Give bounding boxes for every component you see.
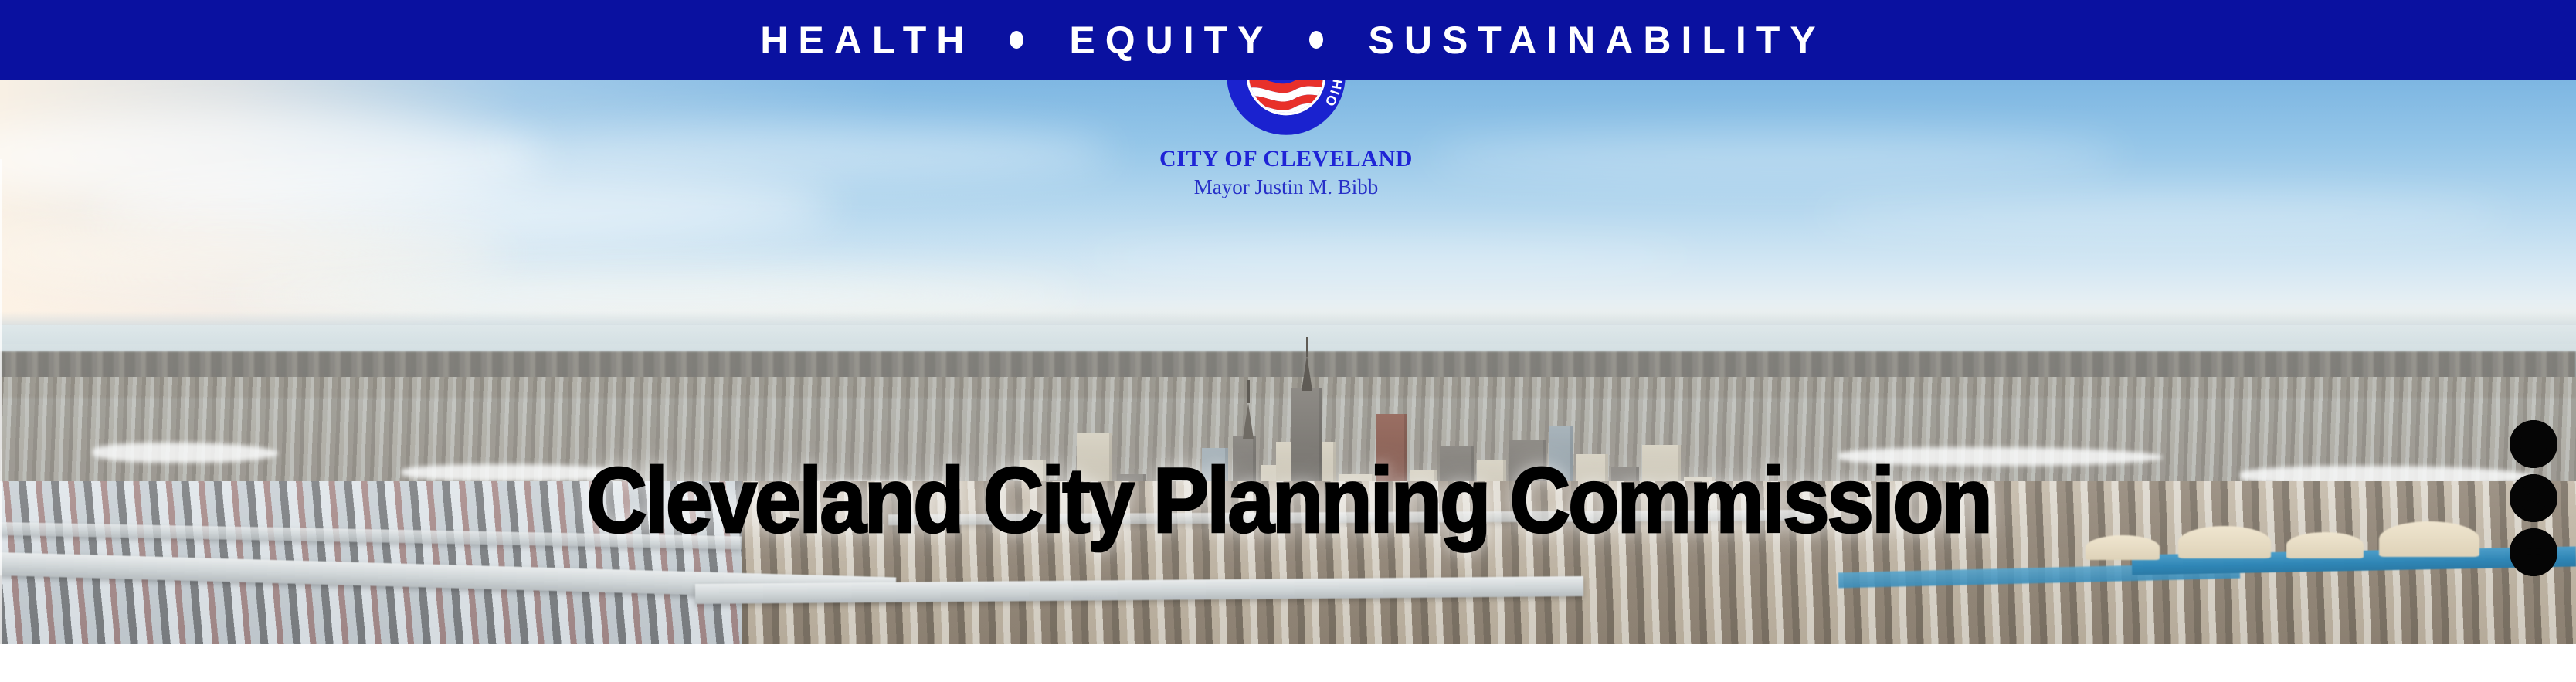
photo-left-edge (0, 159, 2, 644)
instagram-icon (2510, 474, 2557, 522)
spire-needle (1247, 380, 1250, 403)
snow-patch (1838, 447, 2163, 466)
tagline-word-equity: EQUITY (1059, 21, 1273, 59)
facebook-icon (2510, 528, 2557, 576)
cloud (479, 126, 1112, 180)
mayor-name: Mayor Justin M. Bibb (1085, 177, 1487, 198)
youtube-icon (2510, 420, 2557, 468)
youtube-link[interactable] (2510, 420, 2557, 468)
gravel-pile (2286, 532, 2364, 558)
facebook-link[interactable] (2510, 528, 2557, 576)
gravel-pile (2379, 521, 2479, 557)
tagline-word-health: HEALTH (750, 21, 974, 59)
instagram-link[interactable] (2510, 474, 2557, 522)
cloud (1815, 195, 2510, 236)
snow-patch (93, 443, 278, 463)
organization-name: CITY OF CLEVELAND (1085, 148, 1487, 171)
bottom-white-strip (0, 644, 2576, 682)
gravel-pile (2086, 535, 2160, 560)
gravel-pile (2178, 526, 2271, 558)
social-media-rail (2510, 420, 2557, 576)
tagline-separator-dot-icon (1309, 31, 1323, 49)
tagline-banner: HEALTH EQUITY SUSTAINABILITY (0, 0, 2576, 80)
tagline-separator-dot-icon (1010, 31, 1023, 49)
planning-commission-banner-page: HEALTH EQUITY SUSTAINABILITY (0, 0, 2576, 682)
tagline-word-sustainability: SUSTAINABILITY (1359, 21, 1826, 59)
terminal-tower-needle (1306, 337, 1308, 357)
terminal-tower-spire (1302, 355, 1312, 391)
church-spire (1243, 403, 1254, 439)
cloud (1429, 134, 2124, 178)
tagline-inner: HEALTH EQUITY SUSTAINABILITY (750, 21, 1825, 59)
snow-patch (402, 464, 633, 481)
